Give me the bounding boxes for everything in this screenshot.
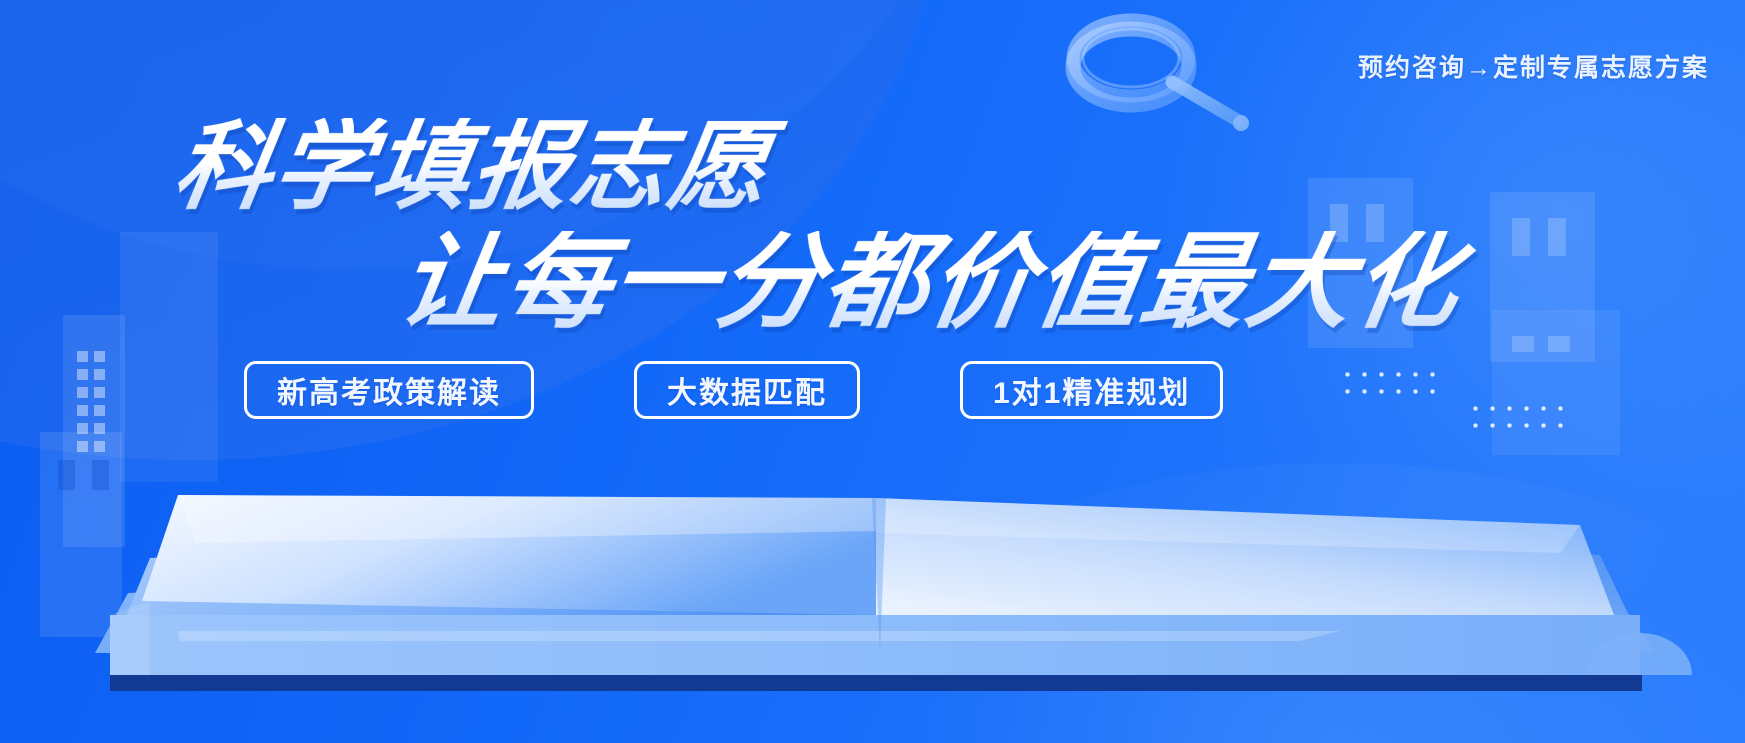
promo-banner: 科学填报志愿 让每一分都价值最大化 预约咨询→定制专属志愿方案 新高考政策解读 … (0, 0, 1745, 743)
magnifier-icon (1055, 10, 1285, 135)
open-book-illustration (0, 403, 1745, 743)
tagline-text: 预约咨询→定制专属志愿方案 (1358, 48, 1709, 84)
dot-grid-pattern (1335, 362, 1440, 404)
building-shape-right-a (1308, 178, 1413, 348)
